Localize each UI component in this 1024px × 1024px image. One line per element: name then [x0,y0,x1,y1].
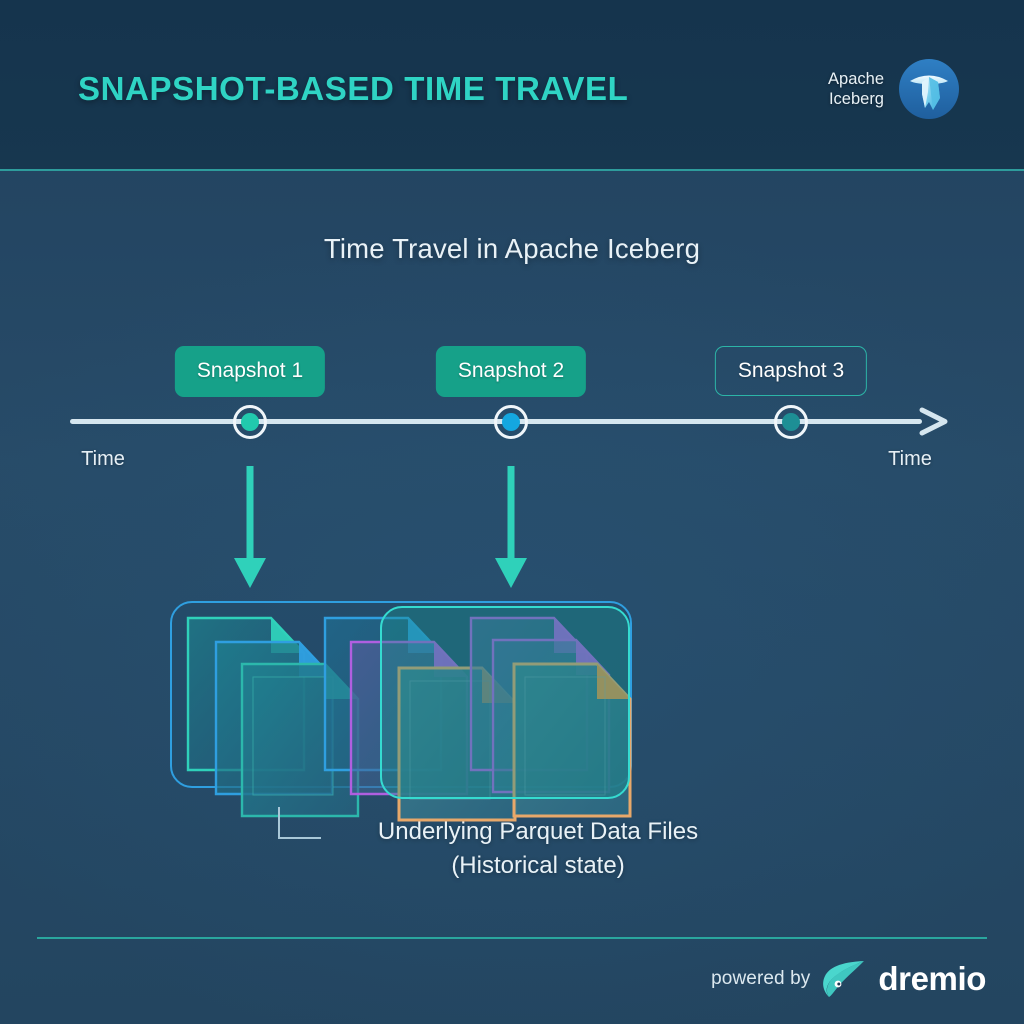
powered-by-label: powered by [711,968,810,990]
snapshot-dot-fill-2 [502,413,520,431]
dremio-wordmark: dremio [878,960,986,998]
all-data-files-group [170,601,632,788]
snapshot-dot-2[interactable] [494,405,528,439]
timeline-arrow-right-icon [918,406,950,437]
down-arrow-snapshot-1-icon [230,466,270,592]
page-title: SNAPSHOT-BASED TIME TRAVEL [78,70,628,108]
file-stack-1-doc-3-icon [239,661,361,819]
footer-branding: powered by dremio [711,958,986,1000]
snapshot-pill-3[interactable]: Snapshot 3 [715,346,867,396]
timeline-label-right: Time [888,448,932,471]
chart-subtitle: Time Travel in Apache Iceberg [0,233,1024,265]
file-stack-2-doc-2-icon [348,639,470,797]
down-arrow-snapshot-2-icon [491,466,531,592]
snapshot-dot-fill-3 [782,413,800,431]
apache-iceberg-brand: Apache Iceberg [828,58,960,120]
apache-iceberg-logo-icon [898,58,960,120]
file-stack-2-doc-1-icon [322,615,444,773]
file-stack-3-doc-1-icon [468,615,590,773]
file-stack-2-doc-3-icon [396,665,518,823]
snapshot-dot-3[interactable] [774,405,808,439]
header-bar: SNAPSHOT-BASED TIME TRAVEL Apache Iceber… [0,0,1024,171]
snapshot-label-1: Snapshot 1 [197,359,303,382]
footer-divider [37,937,987,939]
snapshot-pill-2[interactable]: Snapshot 2 [436,346,586,397]
file-stack-1-doc-1-icon [185,615,307,773]
snapshot-label-3: Snapshot 3 [738,359,844,382]
snapshot-label-2: Snapshot 2 [458,359,564,382]
dremio-narwhal-logo-icon [821,958,867,1000]
infographic-canvas: SNAPSHOT-BASED TIME TRAVEL Apache Iceber… [0,0,1024,1024]
file-stack-3-doc-2-icon [490,637,612,795]
caption-line-2: (Historical state) [52,849,1024,883]
snapshot-dot-fill-1 [241,413,259,431]
caption-block: Underlying Parquet Data Files (Historica… [0,815,1024,883]
snapshot-pill-1[interactable]: Snapshot 1 [175,346,325,397]
snapshot-dot-1[interactable] [233,405,267,439]
file-stack-1-doc-2-icon [213,639,335,797]
timeline-label-left: Time [81,448,125,471]
file-stack-3-doc-3-icon [511,661,633,819]
snapshot2-subset-group [380,606,630,799]
caption-line-1: Underlying Parquet Data Files [52,815,1024,849]
brand-name-label: Apache Iceberg [828,69,884,109]
